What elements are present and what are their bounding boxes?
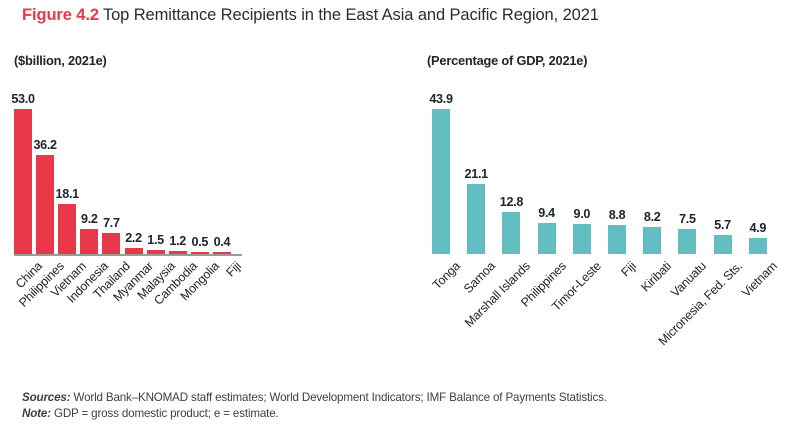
- category-label-gdp-9: Vietnam: [739, 259, 780, 300]
- bar-value-gdp-0: 43.9: [419, 92, 463, 106]
- bar-value-billions-0: 53.0: [1, 92, 45, 106]
- footnotes: Sources: World Bank–KNOMAD staff estimat…: [22, 390, 782, 421]
- footnote-sources: Sources: World Bank–KNOMAD staff estimat…: [22, 390, 782, 406]
- bar-value-gdp-9: 4.9: [736, 221, 780, 235]
- bar-billions-7: [169, 251, 187, 254]
- note-text: GDP = gross domestic product; e = estima…: [51, 407, 279, 420]
- bar-gdp-2: [502, 212, 520, 254]
- bar-gdp-5: [608, 225, 626, 254]
- x-axis-line-billions: [14, 254, 242, 256]
- sources-label: Sources:: [22, 391, 70, 404]
- sources-text: World Bank–KNOMAD staff estimates; World…: [70, 391, 606, 404]
- category-label-billions-9: Fiji: [223, 259, 244, 280]
- bar-value-billions-2: 18.1: [45, 187, 89, 201]
- bar-gdp-0: [432, 109, 450, 254]
- chart-panel-gdp: (Percentage of GDP, 2021e) 43.9Tonga21.1…: [415, 0, 800, 425]
- bar-value-gdp-1: 21.1: [454, 167, 498, 181]
- bar-gdp-1: [467, 184, 485, 254]
- bar-billions-5: [125, 248, 143, 254]
- note-label: Note:: [22, 407, 51, 420]
- bar-value-billions-9: 0.4: [200, 235, 244, 249]
- bar-value-billions-1: 36.2: [23, 138, 67, 152]
- chart-caption-billions: ($billion, 2021e): [14, 53, 107, 68]
- footnote-note: Note: GDP = gross domestic product; e = …: [22, 406, 782, 422]
- category-label-gdp-5: Fiji: [618, 259, 639, 280]
- bar-billions-8: [191, 252, 209, 254]
- bar-gdp-8: [714, 235, 732, 254]
- bar-billions-6: [147, 250, 165, 254]
- bar-gdp-9: [749, 238, 767, 254]
- chart-caption-gdp: (Percentage of GDP, 2021e): [427, 53, 587, 68]
- bar-billions-1: [36, 155, 54, 254]
- bar-gdp-3: [538, 223, 556, 254]
- bar-billions-0: [14, 109, 32, 254]
- chart-panel-billions: ($billion, 2021e) 53.0China36.2Philippin…: [0, 0, 415, 425]
- bar-billions-9: [213, 252, 231, 254]
- bar-gdp-7: [678, 229, 696, 254]
- category-label-gdp-0: Tonga: [430, 259, 463, 292]
- bar-billions-3: [80, 229, 98, 254]
- bar-gdp-4: [573, 224, 591, 254]
- bar-gdp-6: [643, 227, 661, 254]
- bar-value-billions-4: 7.7: [89, 216, 133, 230]
